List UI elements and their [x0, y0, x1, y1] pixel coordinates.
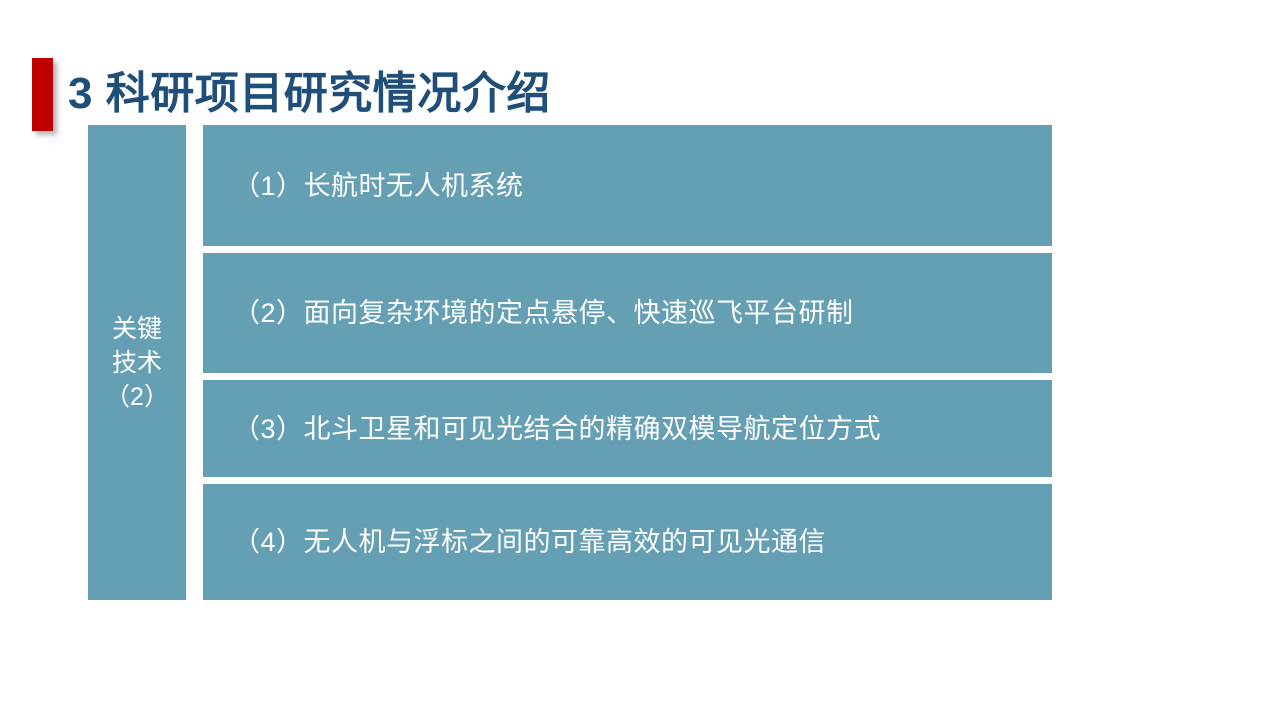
side-label-key-technology: 关键 技术 （2） [88, 125, 186, 600]
list-item-label: （4）无人机与浮标之间的可靠高效的可见光通信 [203, 524, 826, 560]
side-label-line-2: 技术 [112, 346, 162, 380]
list-item: （2）面向复杂环境的定点悬停、快速巡飞平台研制 [203, 253, 1052, 373]
list-item: （1）长航时无人机系统 [203, 125, 1052, 246]
technology-item-list: （1）长航时无人机系统 （2）面向复杂环境的定点悬停、快速巡飞平台研制 （3）北… [203, 125, 1052, 600]
side-label-line-1: 关键 [112, 312, 162, 346]
list-item: （4）无人机与浮标之间的可靠高效的可见光通信 [203, 484, 1052, 600]
slide-title-row: 3 科研项目研究情况介绍 [0, 28, 1280, 108]
list-item: （3）北斗卫星和可见光结合的精确双模导航定位方式 [203, 380, 1052, 477]
key-technology-diagram: 关键 技术 （2） （1）长航时无人机系统 （2）面向复杂环境的定点悬停、快速巡… [88, 125, 1052, 600]
list-item-label: （2）面向复杂环境的定点悬停、快速巡飞平台研制 [203, 295, 854, 331]
list-item-label: （3）北斗卫星和可见光结合的精确双模导航定位方式 [203, 411, 881, 447]
page-title: 3 科研项目研究情况介绍 [68, 56, 551, 132]
side-label-line-3: （2） [105, 380, 169, 414]
slide-canvas: 3 科研项目研究情况介绍 关键 技术 （2） （1）长航时无人机系统 （2）面向… [0, 0, 1280, 720]
title-accent-bar [32, 58, 53, 131]
list-item-label: （1）长航时无人机系统 [203, 168, 524, 204]
